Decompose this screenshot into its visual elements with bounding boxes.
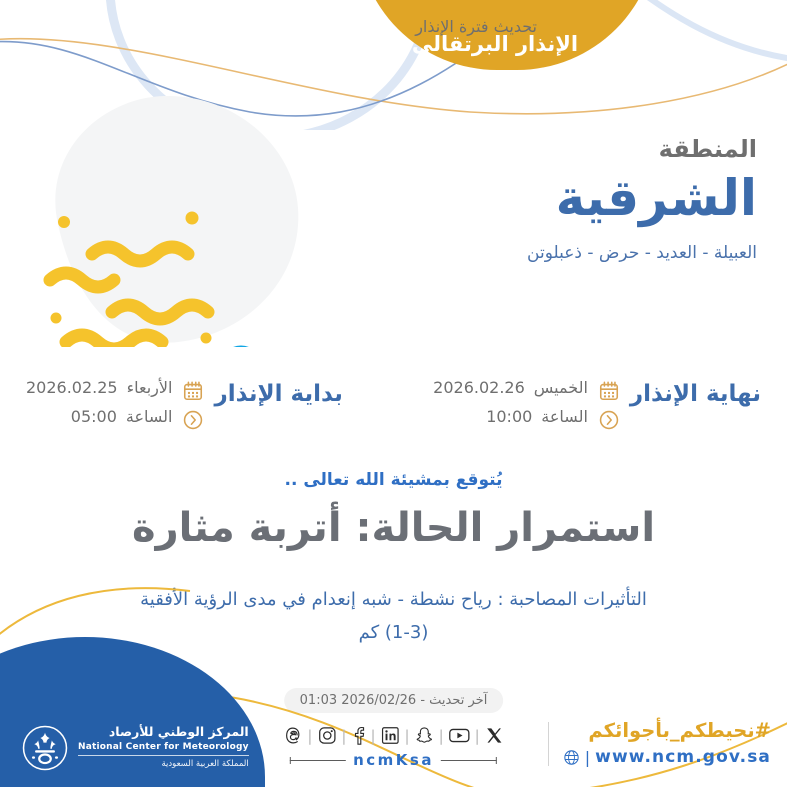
social-separator: |: [365, 727, 380, 745]
social-handle: ncmKsa: [353, 751, 434, 769]
website-url[interactable]: www.ncm.gov.sa: [595, 747, 771, 767]
website-block: #نحيطكم_بأجوائكم | www.ncm.gov.sa: [563, 718, 773, 767]
campaign-hashtag: #نحيطكم_بأجوائكم: [563, 718, 771, 744]
warning-end-block: نهاية الإنذار الخميس 2026.02.26: [433, 376, 761, 431]
social-block: | | | | | |: [283, 726, 503, 769]
logo-english-name: National Center for Meteorology: [78, 741, 249, 757]
dust-haze-icon: [22, 92, 322, 347]
warning-start-time-label: الساعة: [126, 407, 173, 426]
warning-start-title: بداية الإنذار: [214, 376, 342, 407]
globe-icon: [563, 749, 580, 766]
warning-end-date: 2026.02.26: [433, 378, 525, 397]
social-separator: |: [336, 727, 351, 745]
forecast-effects-line2: (1-3) كم: [90, 616, 697, 649]
website-row: | www.ncm.gov.sa: [563, 747, 771, 767]
snapchat-icon[interactable]: [415, 726, 434, 745]
warning-start-day: الأربعاء: [127, 378, 173, 397]
linkedin-icon[interactable]: [381, 726, 400, 745]
handle-rule-right: [290, 760, 346, 761]
saudi-emblem-icon: [22, 725, 68, 771]
social-handle-row: ncmKsa: [290, 751, 497, 769]
instagram-icon[interactable]: [317, 726, 336, 745]
clock-chevron-icon: [182, 409, 204, 431]
forecast-lead: يُتوقع بمشيئة الله تعالى ..: [0, 470, 787, 490]
region-subareas: العبيلة - العديد - حرض - ذعبلوتن: [327, 242, 757, 266]
social-separator: |: [302, 727, 317, 745]
youtube-icon[interactable]: [449, 726, 470, 745]
warning-end-date-line: الخميس 2026.02.26: [433, 376, 588, 398]
forecast-headline: استمرار الحالة: أتربة مثارة: [0, 505, 787, 551]
warning-start-block: بداية الإنذار الأربعاء 2026.02.25: [26, 376, 343, 431]
warning-end-time-line: الساعة 10:00: [433, 405, 588, 427]
calendar-icon: [182, 380, 204, 402]
region-name: الشرقية: [327, 167, 757, 230]
forecast-effects-line1: التأثيرات المصاحبة : رياح نشطة - شبه إنع…: [90, 583, 697, 616]
calendar-icon: [598, 380, 620, 402]
warning-end-title: نهاية الإنذار: [630, 376, 761, 407]
x-icon[interactable]: [485, 726, 504, 745]
warning-end-day: الخميس: [534, 378, 588, 397]
social-separator: |: [470, 727, 485, 745]
logo-kingdom-name: المملكة العربية السعودية: [78, 758, 249, 771]
social-icons: | | | | | |: [283, 726, 503, 745]
social-separator: |: [434, 727, 449, 745]
social-separator: |: [400, 727, 415, 745]
warning-start-date-line: الأربعاء 2026.02.25: [26, 376, 172, 398]
handle-rule-left: [441, 760, 497, 761]
warning-period-row: بداية الإنذار الأربعاء 2026.02.25: [0, 376, 787, 431]
ncm-logo: المركز الوطني للأرصاد National Center fo…: [22, 724, 249, 771]
region-kicker: المنطقة: [327, 134, 757, 165]
warning-end-time-label: الساعة: [541, 407, 588, 426]
warning-start-date: 2026.02.25: [26, 378, 118, 397]
region-block: المنطقة الشرقية العبيلة - العديد - حرض -…: [327, 134, 757, 265]
last-update-pill: آخر تحديث - 2026/02/26 01:03: [284, 688, 504, 713]
logo-arabic-name: المركز الوطني للأرصاد: [78, 724, 249, 740]
warning-start-time-line: الساعة 05:00: [26, 405, 172, 427]
update-note: تحديث فترة الإنذار: [415, 17, 537, 36]
warning-card: الإنذار البرتقالي تحديث فترة الإنذار الم…: [0, 0, 787, 787]
clock-chevron-icon: [598, 409, 620, 431]
warning-end-time: 10:00: [486, 407, 532, 426]
facebook-icon[interactable]: [351, 726, 365, 745]
website-divider: |: [585, 748, 590, 767]
threads-icon[interactable]: [283, 726, 302, 745]
warning-start-time: 05:00: [71, 407, 117, 426]
